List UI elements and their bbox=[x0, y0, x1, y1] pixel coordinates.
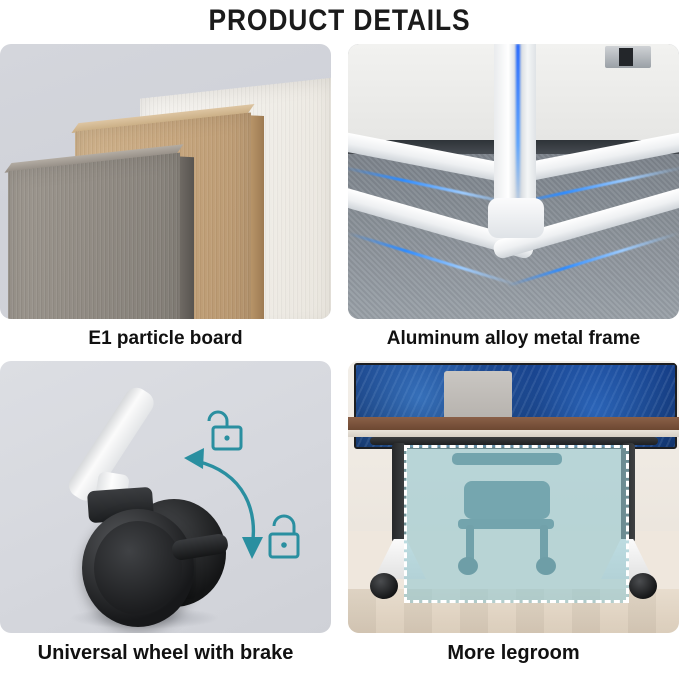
caption-particle-board: E1 particle board bbox=[0, 319, 331, 359]
detail-card-more-legroom: More legroom bbox=[348, 361, 679, 673]
laptop bbox=[444, 371, 512, 421]
universal-wheel-photo bbox=[0, 361, 331, 633]
frame-junction-hub bbox=[488, 198, 544, 238]
caption-more-legroom: More legroom bbox=[348, 633, 679, 673]
gray-board bbox=[8, 153, 180, 319]
desk-surface bbox=[348, 417, 679, 430]
detail-card-universal-wheel: Universal wheel with brake bbox=[0, 361, 331, 673]
desk-caster-left bbox=[370, 573, 398, 599]
details-grid: E1 particle board Aluminum al bbox=[0, 44, 679, 673]
metal-frame-photo bbox=[348, 44, 679, 319]
detail-card-particle-board: E1 particle board bbox=[0, 44, 331, 359]
desk-caster-right bbox=[629, 573, 657, 599]
unlock-icon bbox=[209, 412, 241, 449]
page-title: PRODUCT DETAILS bbox=[41, 0, 639, 42]
legroom-highlight-area bbox=[404, 445, 629, 603]
vertical-column bbox=[494, 44, 536, 216]
desk-crossbar bbox=[370, 437, 658, 445]
mount-bracket bbox=[605, 46, 651, 68]
product-details-infographic: PRODUCT DETAILS E1 particle board bbox=[0, 0, 679, 673]
more-legroom-photo bbox=[348, 361, 679, 633]
desk-edge bbox=[348, 430, 679, 437]
detail-card-metal-frame: Aluminum alloy metal frame bbox=[348, 44, 679, 359]
particle-board-photo bbox=[0, 44, 331, 319]
wheel-annotations bbox=[0, 361, 331, 633]
caption-universal-wheel: Universal wheel with brake bbox=[0, 633, 331, 673]
lock-icon bbox=[270, 516, 298, 557]
column-blue-glow bbox=[516, 44, 520, 210]
caption-metal-frame: Aluminum alloy metal frame bbox=[348, 319, 679, 359]
